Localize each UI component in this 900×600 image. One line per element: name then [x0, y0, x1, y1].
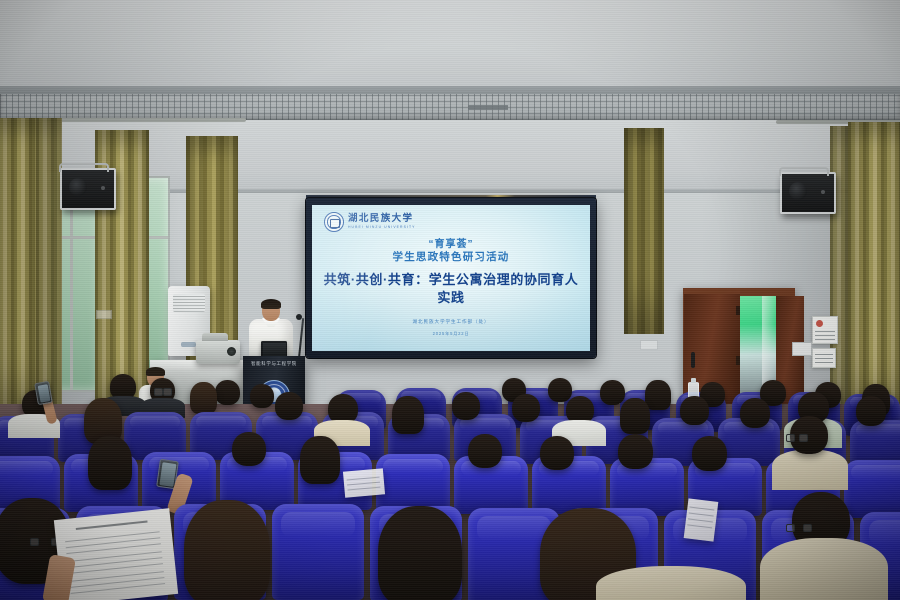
- wall-safety-sign: [812, 316, 838, 344]
- audience-head: [232, 432, 266, 466]
- audience-head: [468, 434, 502, 468]
- audience-head: [512, 394, 540, 422]
- auditorium-photo: 湖北民族大学 HUBEI MINZU UNIVERSITY “育享荟” 学生思政…: [0, 0, 900, 600]
- handout-paper-foreground: [54, 508, 178, 600]
- speaker-cone-icon: [789, 182, 807, 200]
- audience-head: [680, 396, 709, 425]
- presentation-slide: 湖北民族大学 HUBEI MINZU UNIVERSITY “育享荟” 学生思政…: [312, 205, 590, 351]
- audience-head: [190, 382, 217, 414]
- curtain-far-right: [848, 122, 900, 422]
- ceiling-soffit-band: [0, 86, 900, 94]
- ceiling-vent-grille: [0, 94, 900, 120]
- audience-head: [620, 398, 650, 434]
- glasses-icon: [786, 524, 812, 533]
- speaker-tweeter-icon: [101, 186, 105, 190]
- wall-notice-sign: [812, 348, 836, 368]
- audience-head: [88, 436, 132, 490]
- logo-chinese-name: 湖北民族大学: [348, 215, 416, 225]
- audience-shoulders-foreground: [596, 566, 746, 600]
- audience-shoulders: [760, 538, 888, 600]
- ceiling: [0, 0, 900, 88]
- microphone-icon: [296, 314, 302, 320]
- audience-head: [392, 396, 424, 434]
- seat: [272, 504, 364, 600]
- audience-head: [645, 380, 671, 410]
- door-hinge-icon: [736, 306, 740, 315]
- slide-main-title: 共筑·共创·共育：学生公寓治理的协同育人实践: [322, 271, 580, 308]
- slide-university-logo: 湖北民族大学 HUBEI MINZU UNIVERSITY: [324, 212, 416, 232]
- curtain-left-2: [36, 118, 62, 418]
- wall-speaker-left: [60, 168, 116, 210]
- audience-head: [452, 392, 480, 420]
- audience-head: [215, 380, 240, 405]
- audience-head: [856, 396, 886, 426]
- door-handle-icon[interactable]: [691, 352, 695, 368]
- wall-device-plaque: [792, 342, 812, 356]
- audience-head-foreground: [378, 506, 462, 600]
- audience-head: [275, 392, 303, 420]
- university-seal-icon: [324, 212, 344, 232]
- audience-head: [740, 398, 770, 428]
- ac-brand-badge: [181, 342, 196, 347]
- audience-head: [548, 378, 572, 402]
- audience-head: [600, 380, 625, 405]
- speaker-cone-icon: [69, 178, 87, 196]
- handout-paper: [343, 468, 385, 497]
- audience-head-foreground: [184, 500, 270, 600]
- audience-head: [540, 436, 574, 470]
- slide-organization: 湖北民族大学学生工作部（处）: [312, 319, 590, 325]
- audience-head: [250, 384, 274, 408]
- audience-head: [692, 436, 727, 471]
- slide-subtitle-line1: “育享荟”: [312, 235, 590, 250]
- projector-lens-icon: [227, 347, 236, 356]
- slide-subtitle-line2: 学生思政特色研习活动: [312, 249, 590, 264]
- speaker-tweeter-icon: [821, 190, 825, 194]
- projector-device: [196, 340, 240, 364]
- door-hinge-icon: [736, 356, 740, 365]
- seat: [376, 454, 450, 512]
- warning-icon: [816, 320, 823, 327]
- audience-shoulders: [772, 450, 848, 490]
- ac-vent-icon: [173, 294, 205, 312]
- slide-date: 2025年5月22日: [312, 331, 590, 337]
- wall-small-plaque-left: [96, 310, 112, 319]
- glasses-icon: [154, 388, 172, 394]
- presenter-hair: [261, 299, 281, 309]
- curtain-mid-right: [624, 128, 664, 334]
- wall-speaker-right: [780, 172, 836, 214]
- glasses-icon: [786, 434, 808, 440]
- seat: [844, 460, 900, 518]
- wall-small-plaque: [640, 340, 658, 350]
- podium-plate-text: 智能科学与工程学院: [251, 361, 297, 367]
- audience-head: [618, 434, 653, 469]
- handout-paper-right: [684, 498, 719, 541]
- podium-name-plate: 智能科学与工程学院: [246, 360, 302, 368]
- audience-head: [300, 436, 340, 484]
- logo-english-name: HUBEI MINZU UNIVERSITY: [348, 226, 416, 229]
